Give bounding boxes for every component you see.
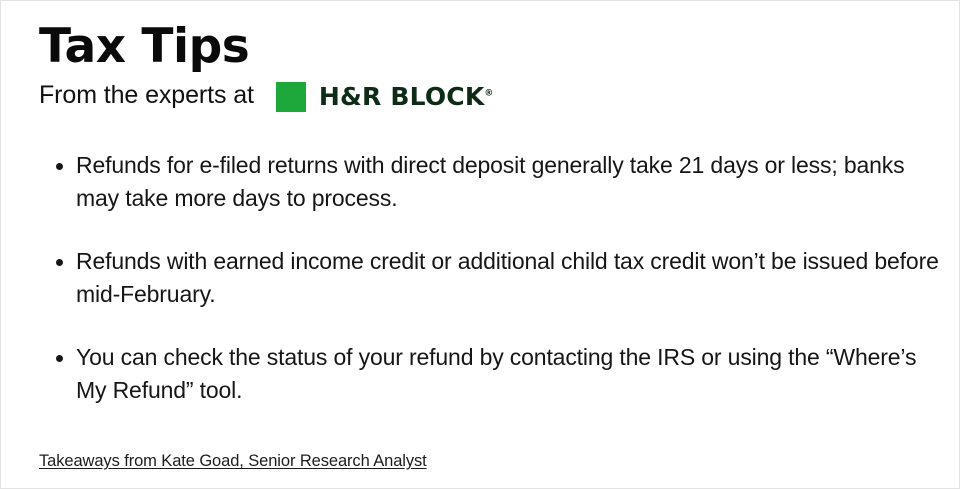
slide-content: Tax Tips From the experts at H&R BLOCK® … xyxy=(39,23,939,478)
list-item-text: Refunds with earned income credit or add… xyxy=(76,248,939,307)
bullet-dot-icon xyxy=(56,163,63,170)
page-title: Tax Tips xyxy=(39,23,939,71)
bullet-dot-icon xyxy=(56,355,63,362)
brand-wordmark: H&R BLOCK® xyxy=(319,84,494,109)
attribution-footer: Takeaways from Kate Goad, Senior Researc… xyxy=(39,452,427,471)
list-item: You can check the status of your refund … xyxy=(39,341,939,407)
tips-list: Refunds for e-filed returns with direct … xyxy=(39,149,939,407)
list-item-text: You can check the status of your refund … xyxy=(76,344,916,403)
list-item: Refunds with earned income credit or add… xyxy=(39,245,939,311)
tax-tips-slide: Tax Tips From the experts at H&R BLOCK® … xyxy=(0,0,960,489)
subtitle-prefix: From the experts at xyxy=(39,83,254,108)
brand-square-icon xyxy=(276,82,306,112)
subtitle-row: From the experts at H&R BLOCK® xyxy=(39,79,939,113)
trademark-icon: ® xyxy=(484,89,493,99)
bullet-dot-icon xyxy=(56,259,63,266)
list-item-text: Refunds for e-filed returns with direct … xyxy=(76,152,904,211)
list-item: Refunds for e-filed returns with direct … xyxy=(39,149,939,215)
brand-name: H&R BLOCK xyxy=(319,82,485,111)
hr-block-logo: H&R BLOCK® xyxy=(276,82,494,112)
